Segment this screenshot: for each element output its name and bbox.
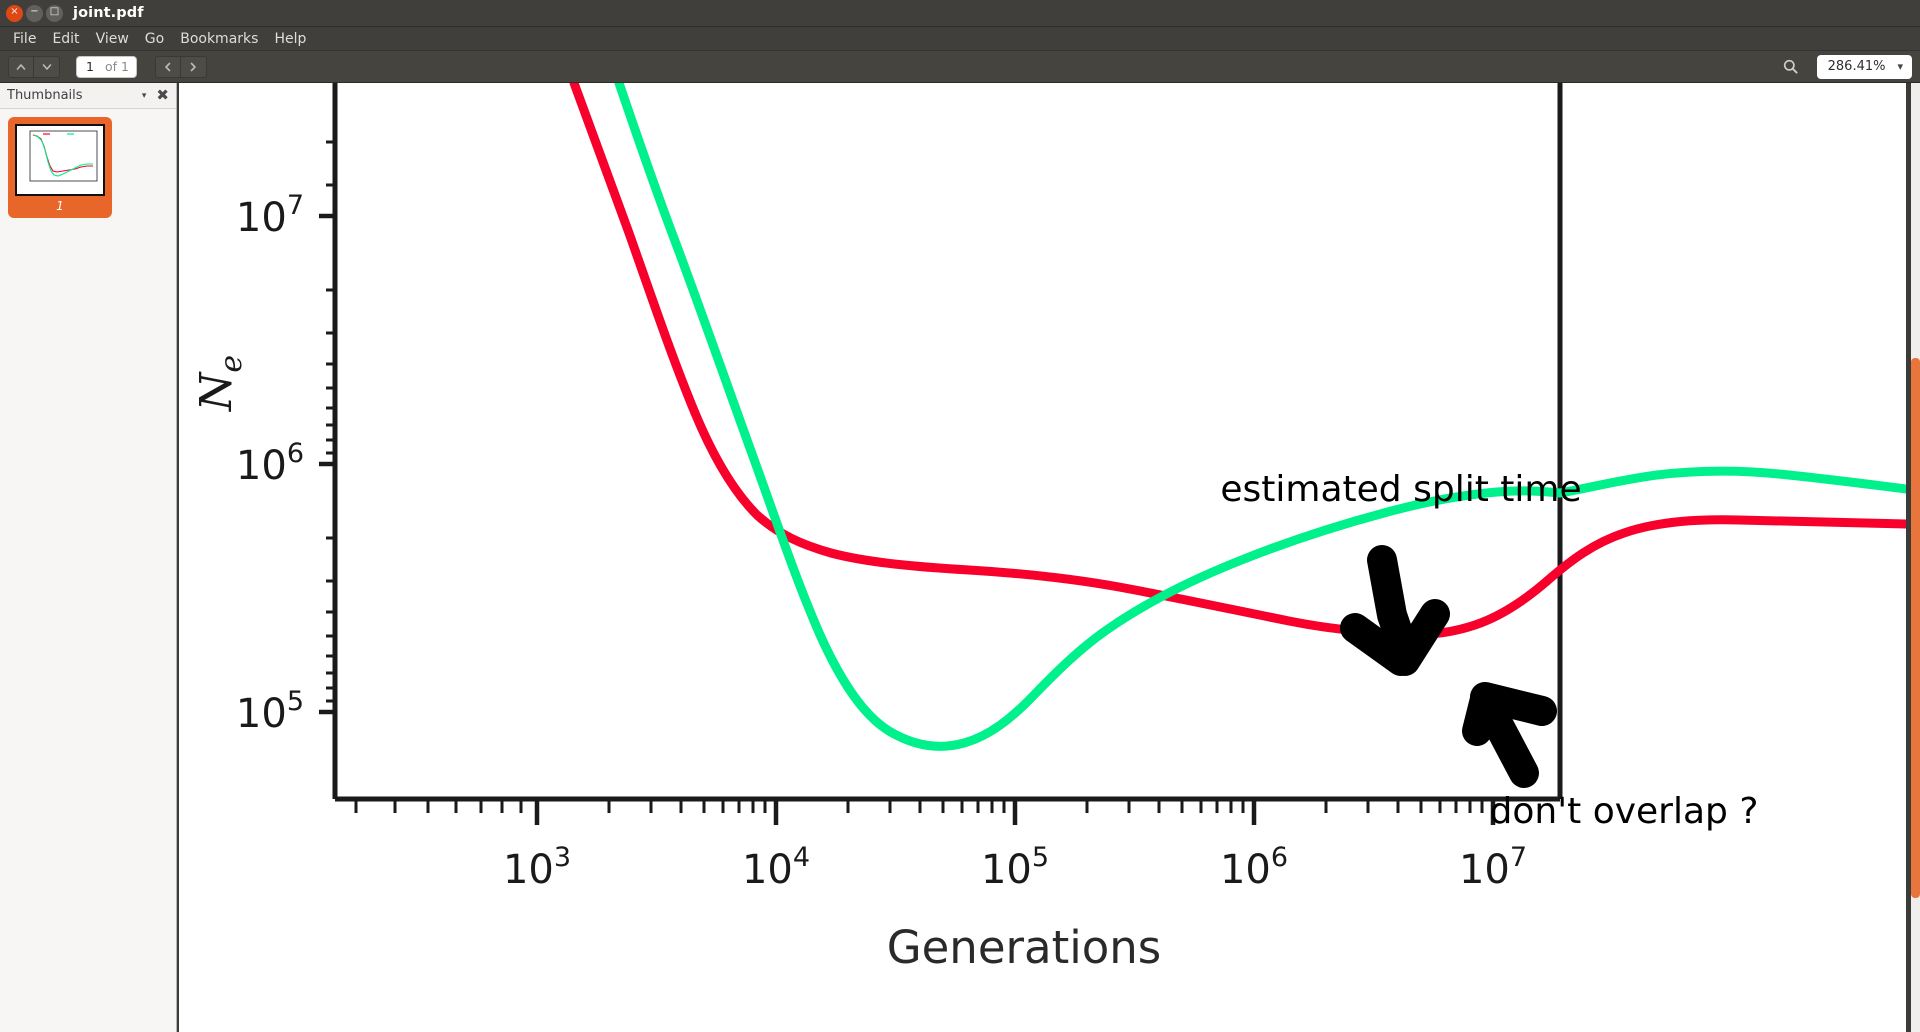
page-nav-group — [8, 56, 60, 78]
document-viewer[interactable]: 107 106 105 103 104 105 106 107 Ne — [177, 83, 1920, 1032]
thumbnails-sidebar: Thumbnails ▾ ✖ — [0, 83, 177, 1032]
sidebar-header: Thumbnails ▾ ✖ — [0, 83, 176, 109]
chevron-left-icon — [162, 61, 174, 73]
vertical-scrollbar[interactable] — [1911, 83, 1920, 1032]
minimize-icon: − — [30, 7, 38, 17]
close-icon: × — [10, 7, 18, 17]
menu-item-edit[interactable]: Edit — [45, 29, 86, 49]
chevron-down-icon: ▾ — [1897, 60, 1903, 73]
sidebar-title: Thumbnails — [7, 88, 132, 103]
menu-bar: File Edit View Go Bookmarks Help — [0, 27, 1920, 51]
annotation-estimated-split-time: estimated split time — [1220, 469, 1581, 510]
search-button[interactable] — [1777, 55, 1805, 79]
previous-page-button[interactable] — [8, 56, 34, 78]
history-nav-group — [155, 56, 207, 78]
zoom-level-select[interactable]: 286.41% ▾ — [1817, 55, 1912, 79]
window-controls: × − □ — [6, 5, 63, 22]
pdf-page: 107 106 105 103 104 105 106 107 Ne — [179, 83, 1906, 1032]
maximize-icon: □ — [50, 7, 59, 17]
maximize-window-button[interactable]: □ — [46, 5, 63, 22]
thumbnail-page-1[interactable]: 1 — [8, 117, 112, 218]
close-sidebar-icon[interactable]: ✖ — [156, 88, 169, 103]
thumbnail-preview — [15, 124, 105, 196]
page-current-value: 1 — [84, 59, 96, 74]
title-bar: × − □ joint.pdf — [0, 0, 1920, 27]
page-number-field[interactable]: 1 of 1 — [76, 56, 137, 78]
next-page-button[interactable] — [34, 56, 60, 78]
minimize-window-button[interactable]: − — [26, 5, 43, 22]
search-icon — [1782, 58, 1799, 75]
window-title: joint.pdf — [73, 5, 144, 21]
plot-background — [179, 83, 1906, 1032]
history-back-button[interactable] — [155, 56, 181, 78]
annotation-dont-overlap: don't overlap ? — [1490, 791, 1759, 832]
window-body: Thumbnails ▾ ✖ — [0, 83, 1920, 1032]
zoom-level-value: 286.41% — [1828, 59, 1886, 74]
thumbnail-list: 1 — [0, 109, 176, 1032]
menu-item-go[interactable]: Go — [138, 29, 171, 49]
chevron-up-icon — [15, 61, 27, 73]
menu-item-help[interactable]: Help — [267, 29, 313, 49]
menu-item-bookmarks[interactable]: Bookmarks — [173, 29, 265, 49]
ne-vs-generations-plot: 107 106 105 103 104 105 106 107 Ne — [179, 83, 1906, 1032]
chevron-down-icon[interactable]: ▾ — [138, 91, 151, 101]
x-axis-label: Generations — [887, 921, 1161, 974]
page-total-label: of 1 — [105, 59, 129, 74]
history-forward-button[interactable] — [181, 56, 207, 78]
thumbnail-plot-image — [17, 126, 103, 194]
vertical-scrollbar-thumb[interactable] — [1911, 358, 1920, 898]
chevron-down-icon — [41, 61, 53, 73]
pdf-viewer-window: × − □ joint.pdf File Edit View Go Bookma… — [0, 0, 1920, 1032]
thumbnail-page-label: 1 — [15, 196, 105, 215]
toolbar: 1 of 1 286.41% ▾ — [0, 51, 1920, 83]
menu-item-file[interactable]: File — [6, 29, 43, 49]
menu-item-view[interactable]: View — [89, 29, 136, 49]
chevron-right-icon — [187, 61, 199, 73]
close-window-button[interactable]: × — [6, 5, 23, 22]
